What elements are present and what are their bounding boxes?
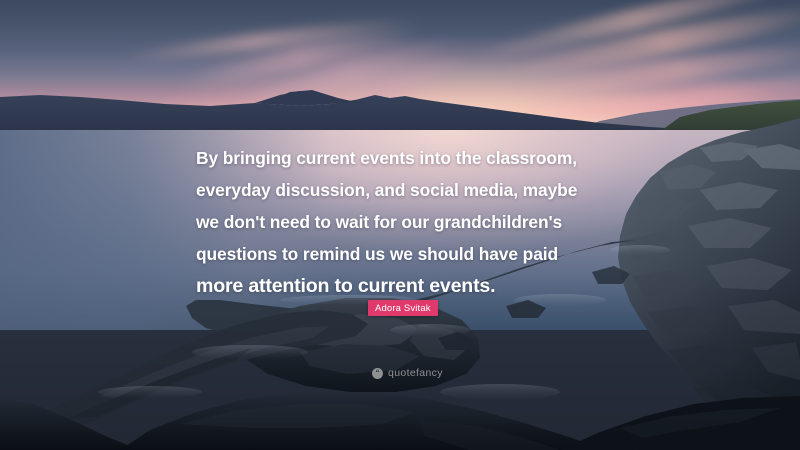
watermark-brand-label: quotefancy bbox=[388, 367, 443, 379]
author-name: Adora Svitak bbox=[375, 303, 431, 314]
quote-line-emphasis: more attention to current events. bbox=[196, 270, 626, 302]
quote-image-canvas: By bringing current events into the clas… bbox=[0, 0, 800, 450]
quote-text-block: By bringing current events into the clas… bbox=[196, 142, 626, 302]
quote-line: we don't need to wait for our grandchild… bbox=[196, 206, 626, 238]
quote-line: everyday discussion, and social media, m… bbox=[196, 174, 626, 206]
quote-line: questions to remind us we should have pa… bbox=[196, 238, 626, 270]
quotefancy-watermark[interactable]: “ quotefancy bbox=[372, 367, 443, 379]
author-badge[interactable]: Adora Svitak bbox=[368, 300, 438, 316]
quote-line: By bringing current events into the clas… bbox=[196, 142, 626, 174]
quote-mark-icon: “ bbox=[372, 368, 383, 379]
